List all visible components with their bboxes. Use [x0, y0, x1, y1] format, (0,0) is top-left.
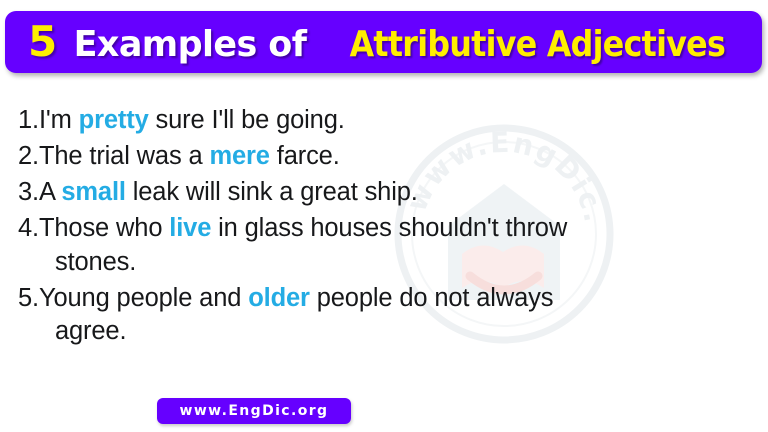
website-badge-label: www.EngDic.org [180, 403, 329, 419]
list-item-text: I'm pretty sure I'll be going. [39, 104, 756, 137]
list-item-after: sure I'll be going. [149, 106, 345, 134]
list-item-before: The trial was a [39, 142, 210, 170]
list-item-before: Young people and [39, 284, 248, 312]
poster-canvas: www.EngDic.org 5 Examples of Attributive… [0, 0, 768, 432]
list-item-before: Those who [39, 214, 169, 242]
list-item-number: 3. [18, 176, 39, 209]
list-item-wrap: agree. [39, 315, 756, 348]
website-badge[interactable]: www.EngDic.org [157, 398, 351, 424]
list-item: 3. A small leak will sink a great ship. [18, 176, 756, 209]
list-item-highlight: small [61, 178, 125, 206]
list-item-number: 4. [18, 212, 39, 245]
page-title: Examples of [73, 27, 306, 63]
list-item-number: 1. [18, 104, 39, 137]
list-item-after: leak will sink a great ship. [126, 178, 418, 206]
list-item-text: A small leak will sink a great ship. [39, 176, 756, 209]
list-item-after: in glass houses shouldn't throw [211, 214, 567, 242]
list-item-before: A [39, 178, 61, 206]
list-item-text: The trial was a mere farce. [39, 140, 756, 173]
title-banner-inner: 5 Examples of Attributive Adjectives [5, 21, 750, 63]
list-item-text: Those who live in glass houses shouldn't… [39, 212, 756, 278]
list-item: 4. Those who live in glass houses should… [18, 212, 756, 278]
page-title-topic: Attributive Adjectives [349, 27, 725, 63]
list-item-number: 5. [18, 282, 39, 315]
list-item-number: 2. [18, 140, 39, 173]
title-banner: 5 Examples of Attributive Adjectives [5, 11, 762, 73]
list-item-wrap: stones. [39, 246, 756, 279]
list-item-text: Young people and older people do not alw… [39, 282, 756, 348]
list-item: 5. Young people and older people do not … [18, 282, 756, 348]
example-count: 5 [28, 21, 57, 63]
list-item-highlight: older [248, 284, 310, 312]
list-item-highlight: mere [209, 142, 269, 170]
list-item-after: people do not always [310, 284, 554, 312]
examples-list: 1. I'm pretty sure I'll be going. 2. The… [18, 104, 756, 351]
list-item: 1. I'm pretty sure I'll be going. [18, 104, 756, 137]
list-item-highlight: live [169, 214, 211, 242]
list-item-highlight: pretty [79, 106, 149, 134]
list-item-before: I'm [39, 106, 79, 134]
list-item-after: farce. [270, 142, 340, 170]
list-item: 2. The trial was a mere farce. [18, 140, 756, 173]
